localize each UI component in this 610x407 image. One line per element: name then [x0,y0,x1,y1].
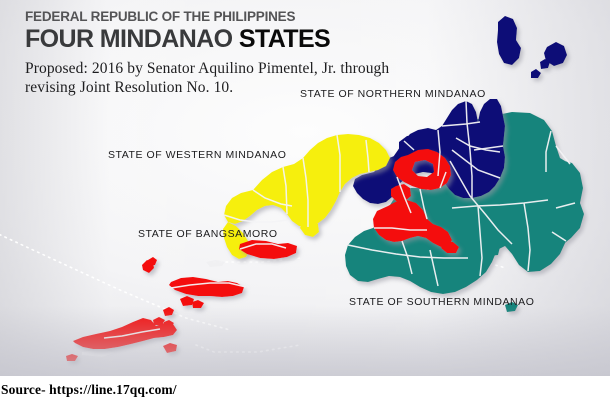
page-title: FOUR MINDANAO STATES [25,26,495,53]
infographic-panel: FEDERAL REPUBLIC OF THE PHILIPPINES FOUR… [0,0,610,376]
region-bangsamoro-islands[interactable] [66,240,297,361]
screenshot-root: FEDERAL REPUBLIC OF THE PHILIPPINES FOUR… [0,0,610,407]
map-label-southern-mindanao: STATE OF SOUTHERN MINDANAO [349,296,534,308]
kicker-text: FEDERAL REPUBLIC OF THE PHILIPPINES [25,9,495,25]
page-title-part-2: STATES [239,25,330,53]
subtitle-line-1: Proposed: 2016 by Senator Aquilino Pimen… [25,59,495,78]
map-label-western-mindanao: STATE OF WESTERN MINDANAO [108,149,286,161]
map-label-bangsamoro: STATE OF BANGSAMORO [138,228,278,240]
page-title-part-1: FOUR MINDANAO [25,25,239,53]
map-label-northern-mindanao: STATE OF NORTHERN MINDANAO [300,88,486,100]
source-caption: Source- https://line.17qq.com/ [1,382,177,398]
header-block: FEDERAL REPUBLIC OF THE PHILIPPINES FOUR… [25,9,495,97]
